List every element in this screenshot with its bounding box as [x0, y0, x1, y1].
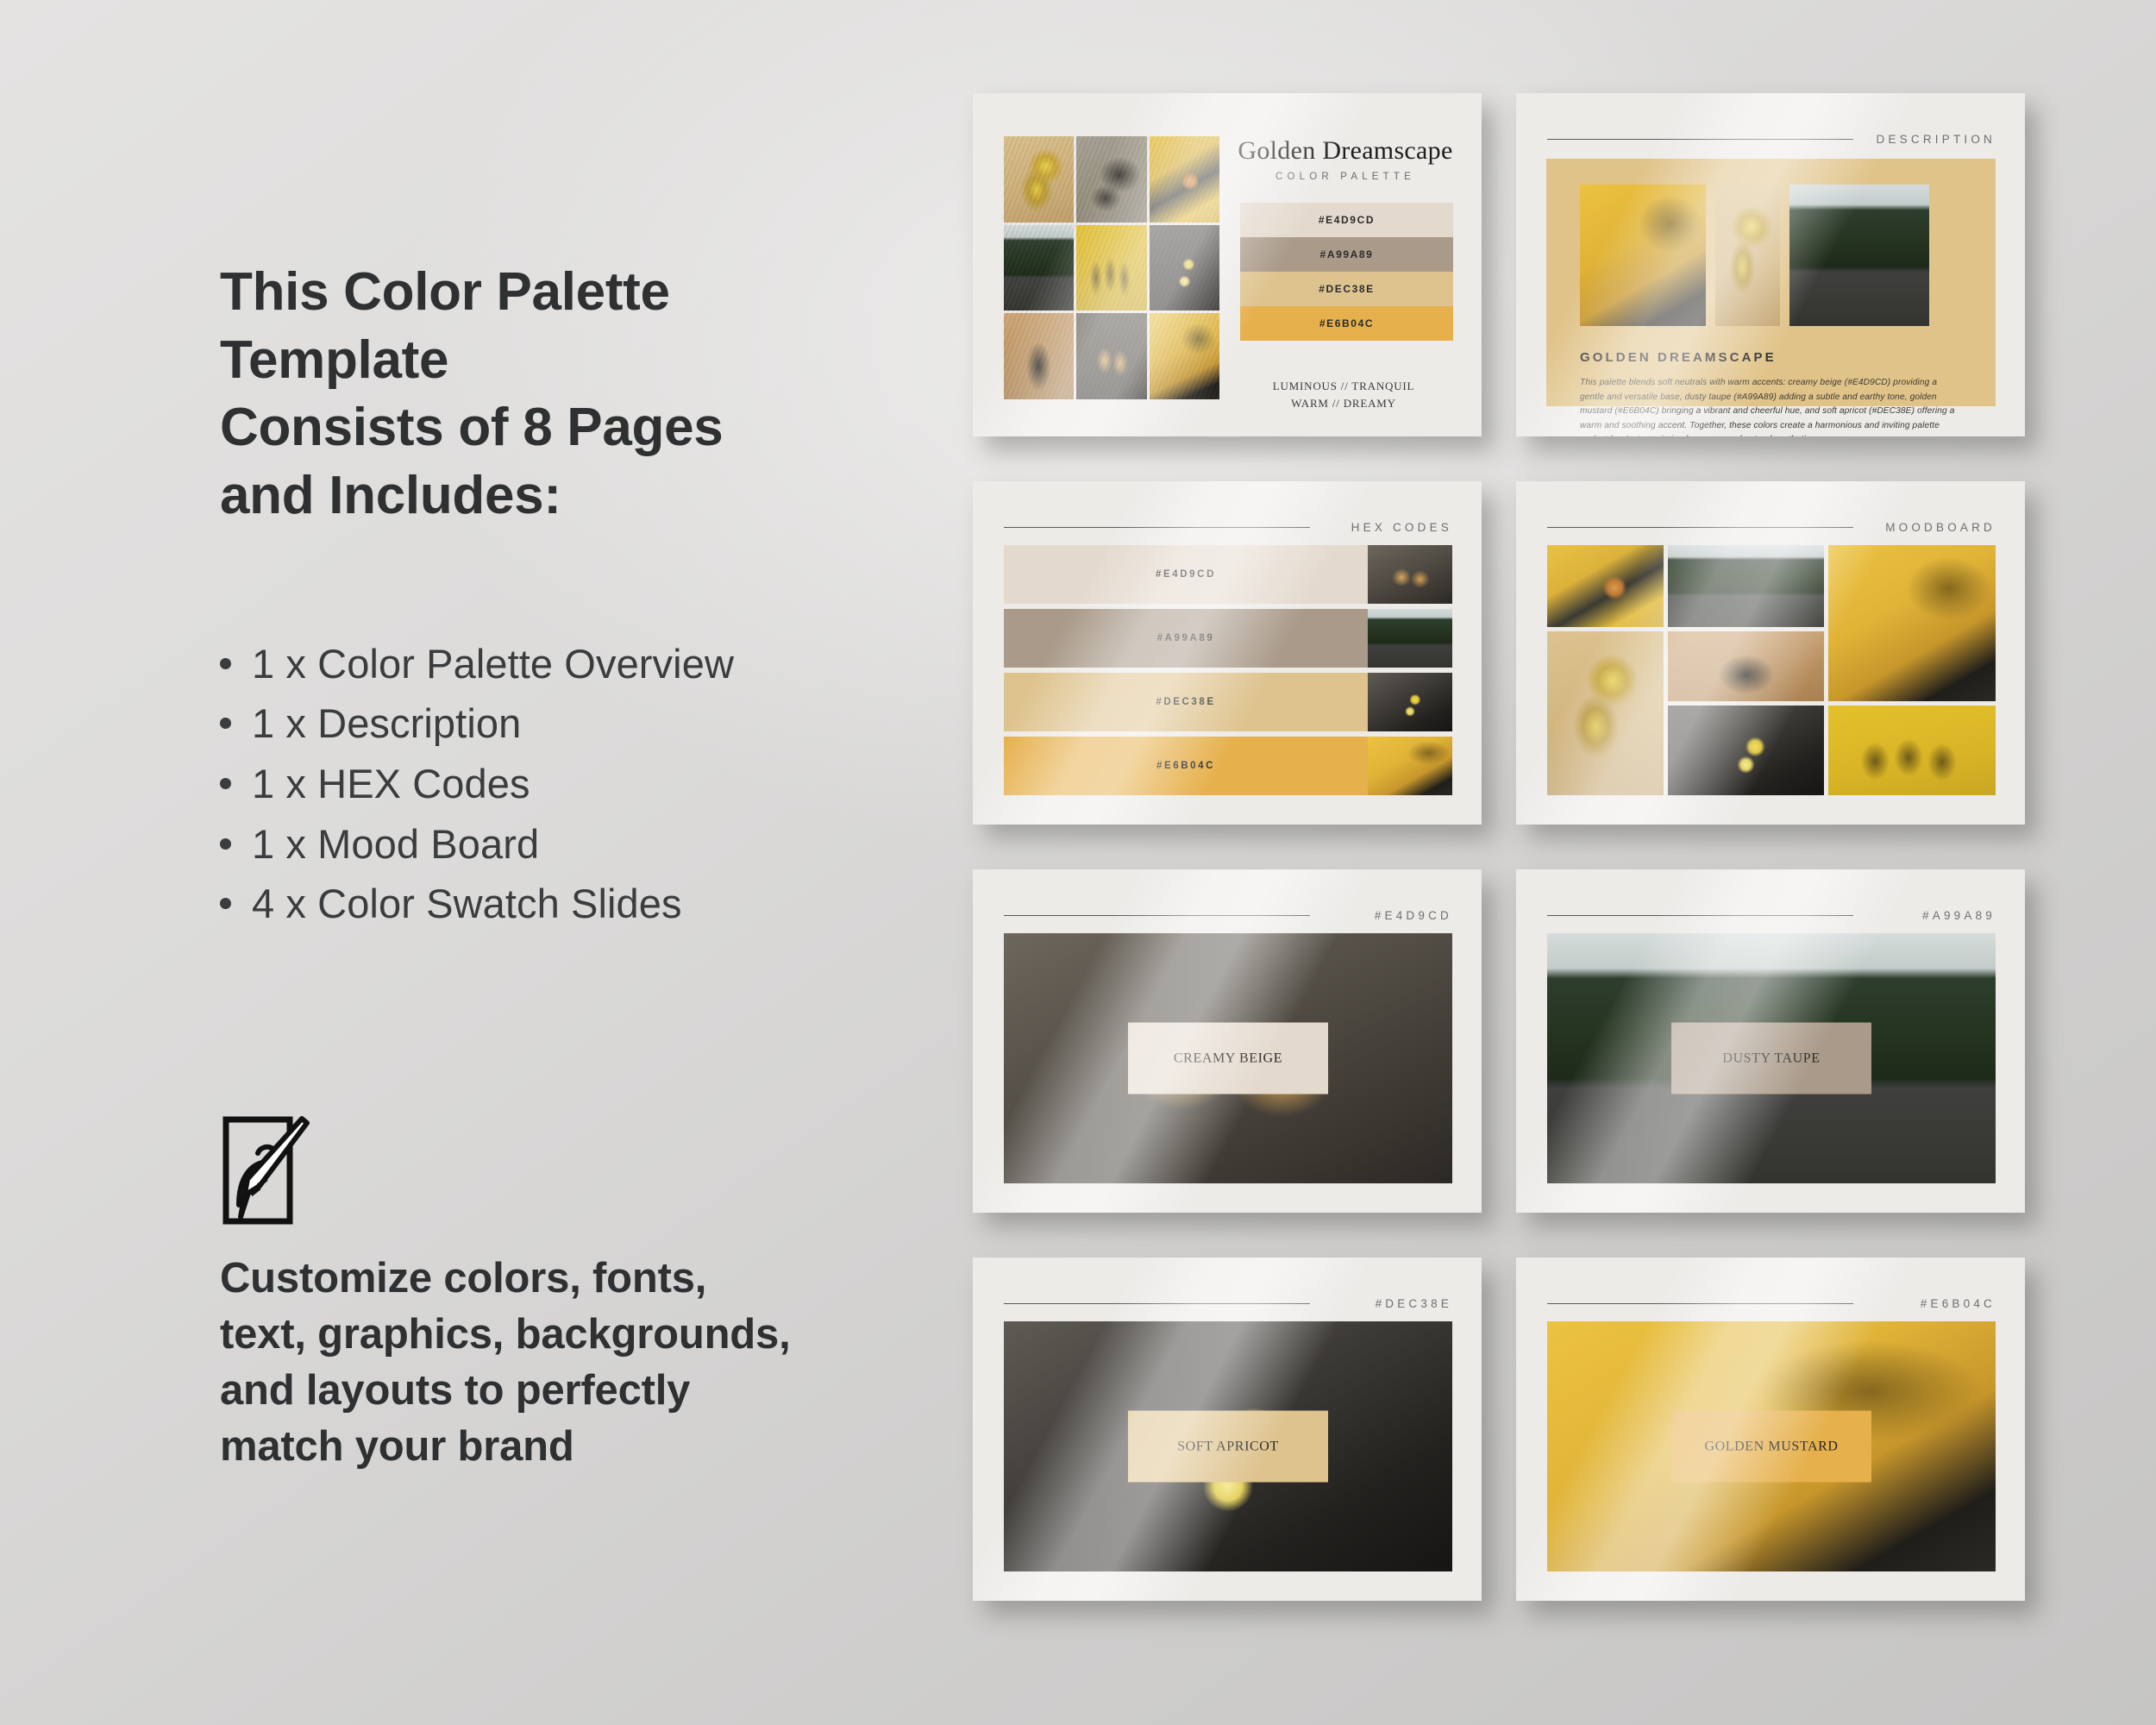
overview-tagline: LUMINOUS // TRANQUIL WARM // DREAMY — [1232, 378, 1456, 412]
paintbrush-in-frame-icon — [222, 1115, 313, 1230]
overview-collage — [1004, 136, 1219, 399]
hex-label: #E4D9CD — [1156, 569, 1216, 580]
photo-shadow-legs — [1076, 136, 1146, 223]
swatch-hex-label: #A99A89 — [1320, 248, 1374, 260]
slide-moodboard[interactable]: MOODBOARD — [1516, 481, 2025, 825]
photo-forest-road — [1004, 225, 1074, 311]
list-item-label: 1 x Mood Board — [252, 814, 539, 875]
description-heading: GOLDEN DREAMSCAPE — [1580, 350, 1777, 365]
photo-yellow-gloves — [1715, 185, 1780, 326]
slide-swatch-creamy-beige[interactable]: #E4D9CD CREAMY BEIGE — [973, 869, 1482, 1213]
headline-line-1: This Color Palette — [220, 259, 927, 327]
photo-lemons-shadow: SOFT APRICOT — [1004, 1321, 1452, 1571]
slide-header: #A99A89 — [1547, 909, 1996, 922]
photo-crowd-shadows — [1076, 225, 1146, 311]
slide-label: #E4D9CD — [1375, 909, 1452, 922]
photo-forest-road — [1668, 545, 1824, 627]
table-row: #DEC38E — [1004, 673, 1452, 731]
customize-line-3: and layouts to perfectly — [220, 1363, 996, 1419]
slide-header: #E4D9CD — [1004, 909, 1452, 922]
slide-label: #DEC38E — [1376, 1297, 1452, 1310]
bullet-dot-icon — [220, 838, 231, 850]
swatch-name-card: GOLDEN MUSTARD — [1671, 1411, 1871, 1483]
bullet-dot-icon — [220, 658, 231, 669]
photo-yellow-car-rear — [1580, 185, 1706, 326]
slide-header: #E6B04C — [1547, 1297, 1996, 1310]
tagline-line-2: WARM // DREAMY — [1232, 395, 1456, 412]
list-item-label: 1 x HEX Codes — [252, 754, 530, 814]
slide-swatch-soft-apricot[interactable]: #DEC38E SOFT APRICOT — [973, 1258, 1482, 1601]
photo-beach-shadow — [1668, 631, 1824, 701]
photo-yellow-car-rear — [1368, 737, 1452, 795]
table-row: #A99A89 — [1004, 609, 1452, 668]
customize-line-1: Customize colors, fonts, — [220, 1251, 996, 1307]
hex-bar: #E6B04C — [1004, 737, 1368, 795]
header-rule — [1547, 527, 1853, 528]
bullet-dot-icon — [220, 718, 231, 729]
header-rule — [1547, 139, 1853, 140]
swatch-row: #E4D9CD — [1240, 203, 1453, 237]
photo-beach-shadow — [1004, 313, 1074, 399]
swatch-hex-label: #DEC38E — [1319, 283, 1375, 295]
headline-line-4: and Includes: — [220, 462, 927, 530]
photo-forest-road — [1789, 185, 1929, 326]
slide-label: HEX CODES — [1351, 521, 1452, 534]
slide-header: #DEC38E — [1004, 1297, 1452, 1310]
list-item-label: 4 x Color Swatch Slides — [252, 874, 682, 934]
list-item: 4 x Color Swatch Slides — [220, 874, 927, 934]
slide-color-palette-overview[interactable]: Golden Dreamscape COLOR PALETTE #E4D9CD … — [973, 93, 1482, 436]
description-body: This palette blends soft neutrals with w… — [1580, 376, 1957, 436]
moodboard-grid — [1547, 545, 1996, 795]
list-item-label: 1 x Color Palette Overview — [252, 634, 734, 694]
swatch-hex-label: #E4D9CD — [1319, 214, 1375, 226]
bullet-dot-icon — [220, 778, 231, 789]
photo-lemons-shadow — [1150, 225, 1219, 311]
photo-sunglasses — [1076, 313, 1146, 399]
swatch-name: CREAMY BEIGE — [1174, 1051, 1282, 1066]
slide-label: MOODBOARD — [1885, 521, 1996, 534]
list-item-label: 1 x Description — [252, 693, 521, 754]
swatch-row: #DEC38E — [1240, 272, 1453, 306]
photo-yellow-car — [1150, 313, 1219, 399]
includes-list: 1 x Color Palette Overview 1 x Descripti… — [220, 634, 927, 934]
photo-dog-in-car — [1150, 136, 1219, 223]
photo-sunglasses: CREAMY BEIGE — [1004, 933, 1452, 1183]
customize-line-2: text, graphics, backgrounds, — [220, 1307, 996, 1363]
header-rule — [1004, 915, 1310, 916]
overview-title: Golden Dreamscape — [1232, 138, 1459, 164]
list-item: 1 x HEX Codes — [220, 754, 927, 814]
customize-line-4: match your brand — [220, 1419, 996, 1475]
headline-line-2: Template — [220, 327, 927, 395]
table-row: #E4D9CD — [1004, 545, 1452, 604]
swatch-hex-label: #E6B04C — [1319, 317, 1374, 329]
tagline-line-1: LUMINOUS // TRANQUIL — [1232, 378, 1456, 395]
hex-label: #E6B04C — [1156, 761, 1215, 771]
table-row: #E6B04C — [1004, 737, 1452, 795]
hex-bar: #E4D9CD — [1004, 545, 1368, 604]
hex-bar: #DEC38E — [1004, 673, 1368, 731]
photo-yellow-car-rear — [1828, 545, 1996, 701]
list-item: 1 x Mood Board — [220, 814, 927, 875]
slide-header: HEX CODES — [1004, 521, 1452, 534]
swatch-row: #A99A89 — [1240, 237, 1453, 272]
header-rule — [1547, 915, 1853, 916]
slide-hex-codes[interactable]: HEX CODES #E4D9CD #A99A89 #DEC38E #E6B04… — [973, 481, 1482, 825]
description-images — [1580, 185, 1929, 326]
description-panel: GOLDEN DREAMSCAPE This palette blends so… — [1546, 159, 1996, 406]
swatch-name: GOLDEN MUSTARD — [1704, 1439, 1838, 1454]
swatch-name: SOFT APRICOT — [1177, 1439, 1279, 1454]
photo-dog-in-car — [1547, 545, 1664, 627]
slide-swatch-dusty-taupe[interactable]: #A99A89 DUSTY TAUPE — [1516, 869, 2025, 1213]
overview-subtitle: COLOR PALETTE — [1232, 172, 1459, 182]
slide-description[interactable]: DESCRIPTION GOLDEN DREAMSCAPE This palet… — [1516, 93, 2025, 436]
overview-title-block: Golden Dreamscape COLOR PALETTE — [1232, 138, 1459, 182]
slide-preview-grid: Golden Dreamscape COLOR PALETTE #E4D9CD … — [973, 93, 2025, 1646]
list-item: 1 x Description — [220, 693, 927, 754]
header-rule — [1547, 1303, 1853, 1304]
header-rule — [1004, 527, 1310, 528]
list-item: 1 x Color Palette Overview — [220, 634, 927, 694]
photo-lemons-shadow — [1368, 673, 1452, 731]
swatch-name: DUSTY TAUPE — [1722, 1051, 1820, 1066]
left-info-panel: This Color Palette Template Consists of … — [220, 259, 927, 934]
overview-swatch-stack: #E4D9CD #A99A89 #DEC38E #E6B04C — [1240, 203, 1453, 341]
swatch-name-card: DUSTY TAUPE — [1671, 1023, 1871, 1095]
photo-yellow-car-rear: GOLDEN MUSTARD — [1547, 1321, 1996, 1571]
customize-callout: Customize colors, fonts, text, graphics,… — [220, 1251, 996, 1476]
photo-crowd-shadows — [1828, 706, 1996, 795]
slide-label: #E6B04C — [1921, 1297, 1996, 1310]
slide-swatch-golden-mustard[interactable]: #E6B04C GOLDEN MUSTARD — [1516, 1258, 2025, 1601]
swatch-name-card: CREAMY BEIGE — [1128, 1023, 1328, 1095]
photo-yellow-gloves — [1547, 631, 1664, 795]
hex-bar: #A99A89 — [1004, 609, 1368, 668]
slide-label: #A99A89 — [1922, 909, 1996, 922]
swatch-row: #E6B04C — [1240, 306, 1453, 341]
hex-label: #A99A89 — [1157, 633, 1215, 643]
hex-label: #DEC38E — [1156, 697, 1215, 707]
slide-label: DESCRIPTION — [1877, 133, 1996, 146]
photo-sunglasses — [1368, 545, 1452, 604]
header-rule — [1004, 1303, 1310, 1304]
photo-forest-road — [1368, 609, 1452, 668]
page-title: This Color Palette Template Consists of … — [220, 259, 927, 530]
slide-header: DESCRIPTION — [1547, 133, 1996, 146]
swatch-name-card: SOFT APRICOT — [1128, 1411, 1328, 1483]
slide-header: MOODBOARD — [1547, 521, 1996, 534]
photo-yellow-gloves — [1004, 136, 1074, 223]
hex-code-rows: #E4D9CD #A99A89 #DEC38E #E6B04C — [1004, 545, 1452, 795]
photo-forest-road: DUSTY TAUPE — [1547, 933, 1996, 1183]
bullet-dot-icon — [220, 898, 231, 909]
headline-line-3: Consists of 8 Pages — [220, 394, 927, 462]
photo-lemons-shadow — [1668, 706, 1824, 795]
